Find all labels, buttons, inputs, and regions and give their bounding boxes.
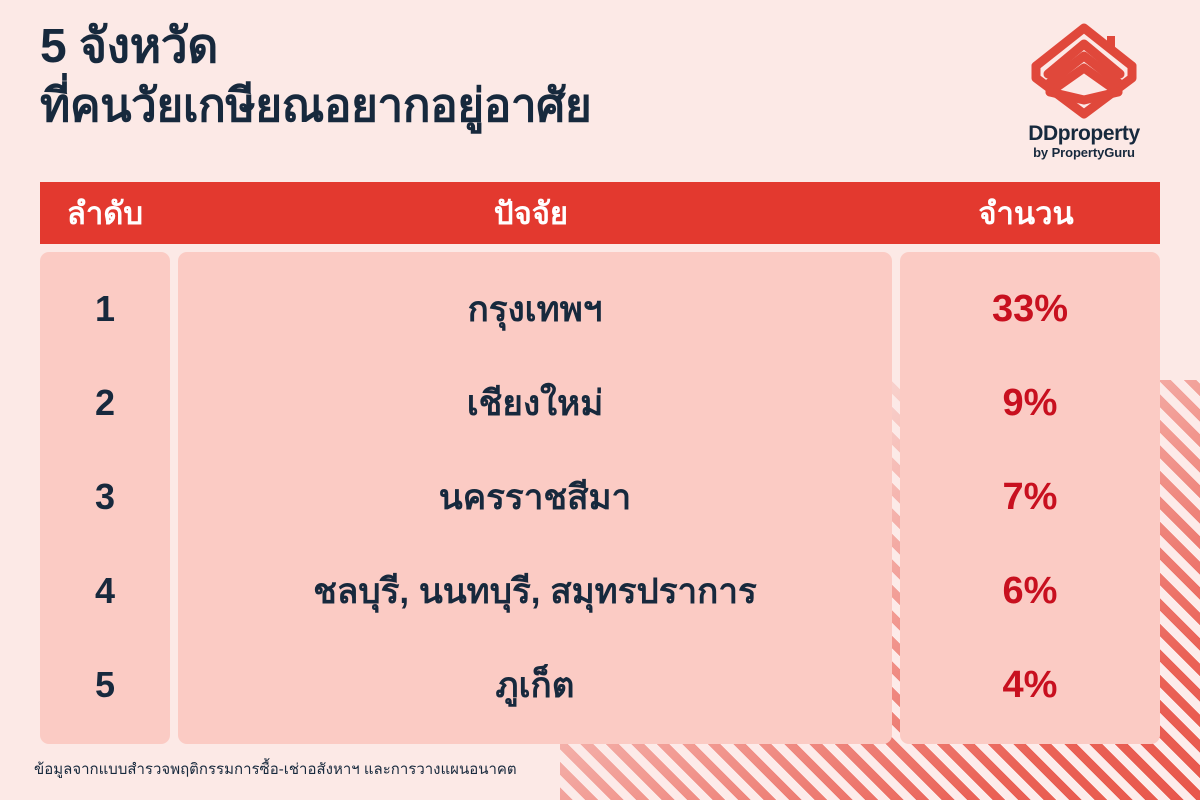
- infographic-page: 5 จังหวัด ที่คนวัยเกษียณอยากอยู่อาศัย DD…: [0, 0, 1200, 800]
- header: 5 จังหวัด ที่คนวัยเกษียณอยากอยู่อาศัย DD…: [40, 18, 1176, 173]
- table-row: 4%: [900, 638, 1160, 732]
- table-row: 6%: [900, 544, 1160, 638]
- table-row: กรุงเทพฯ: [178, 262, 892, 356]
- rank-column-panel: 1 2 3 4 5: [40, 252, 170, 744]
- value-column-panel: 33% 9% 7% 6% 4%: [900, 252, 1160, 744]
- title-line-1: 5 จังหวัด: [40, 18, 591, 76]
- table-row: 4: [40, 544, 170, 638]
- table-row: 3: [40, 450, 170, 544]
- table-header-row: ลำดับ ปัจจัย จำนวน: [40, 182, 1160, 244]
- table-row: 9%: [900, 356, 1160, 450]
- title-line-2: ที่คนวัยเกษียณอยากอยู่อาศัย: [40, 76, 591, 134]
- source-footnote: ข้อมูลจากแบบสำรวจพฤติกรรมการซื้อ-เช่าอสั…: [34, 757, 517, 781]
- ddproperty-roof-chevron-icon: [1028, 22, 1140, 120]
- table-row: ภูเก็ต: [178, 638, 892, 732]
- logo-tagline: by PropertyGuru: [1004, 145, 1164, 160]
- table-row: 7%: [900, 450, 1160, 544]
- brand-logo: DDproperty by PropertyGuru: [1004, 22, 1164, 160]
- column-header-item: ปัจจัย: [170, 188, 892, 238]
- ranking-table: ลำดับ ปัจจัย จำนวน 1 2 3 4 5 กรุงเทพฯ เช…: [40, 182, 1160, 744]
- item-column-panel: กรุงเทพฯ เชียงใหม่ นครราชสีมา ชลบุรี, นน…: [178, 252, 892, 744]
- table-body: 1 2 3 4 5 กรุงเทพฯ เชียงใหม่ นครราชสีมา …: [40, 252, 1160, 744]
- page-title: 5 จังหวัด ที่คนวัยเกษียณอยากอยู่อาศัย: [40, 18, 591, 134]
- table-row: 2: [40, 356, 170, 450]
- table-row: ชลบุรี, นนทบุรี, สมุทรปราการ: [178, 544, 892, 638]
- column-header-rank: ลำดับ: [40, 188, 170, 238]
- table-row: 1: [40, 262, 170, 356]
- table-row: 33%: [900, 262, 1160, 356]
- table-row: 5: [40, 638, 170, 732]
- table-row: เชียงใหม่: [178, 356, 892, 450]
- table-row: นครราชสีมา: [178, 450, 892, 544]
- logo-wordmark: DDproperty: [1004, 122, 1164, 145]
- column-header-value: จำนวน: [892, 188, 1160, 238]
